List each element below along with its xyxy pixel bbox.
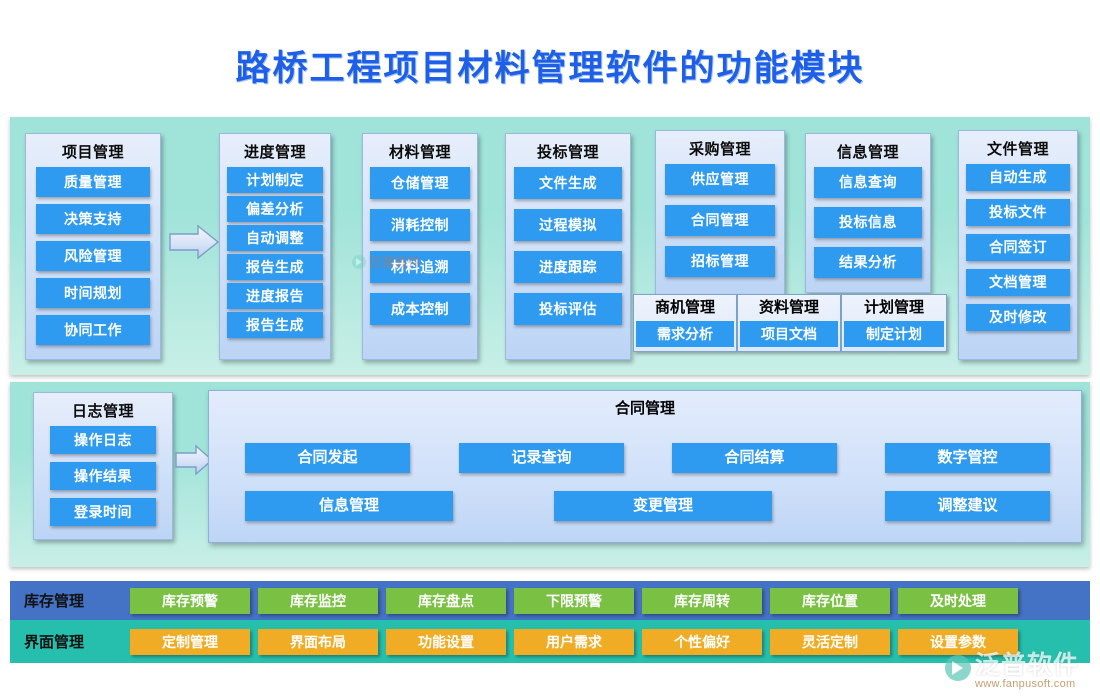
- mini-card-item[interactable]: 项目文档: [740, 321, 838, 347]
- contract-action[interactable]: 数字管控: [885, 443, 1050, 473]
- module-column-title: 进度管理: [220, 134, 330, 167]
- brand-name: 泛普软件: [975, 652, 1079, 678]
- module-item[interactable]: 结果分析: [814, 247, 922, 278]
- module-item[interactable]: 协同工作: [36, 315, 150, 345]
- inventory-chip[interactable]: 库存位置: [770, 588, 890, 614]
- module-item[interactable]: 文件生成: [514, 167, 622, 199]
- mini-card-item[interactable]: 制定计划: [844, 321, 944, 347]
- module-item[interactable]: 投标评估: [514, 293, 622, 325]
- module-column-information[interactable]: 信息管理 信息查询 投标信息 结果分析: [805, 133, 931, 293]
- module-item[interactable]: 自动生成: [966, 164, 1070, 191]
- module-column-title: 投标管理: [506, 134, 630, 167]
- module-item[interactable]: 过程模拟: [514, 209, 622, 241]
- module-item[interactable]: 偏差分析: [227, 196, 323, 222]
- module-item[interactable]: 时间规划: [36, 278, 150, 308]
- page-title: 路桥工程项目材料管理软件的功能模块: [0, 40, 1100, 91]
- module-column-title: 信息管理: [806, 134, 930, 167]
- ui-management-bar: 界面管理 定制管理 界面布局 功能设置 用户需求 个性偏好 灵活定制 设置参数: [10, 620, 1090, 663]
- module-item[interactable]: 供应管理: [665, 164, 775, 195]
- module-column-title: 日志管理: [34, 393, 172, 426]
- inventory-chip[interactable]: 库存预警: [130, 588, 250, 614]
- ui-chip[interactable]: 个性偏好: [642, 629, 762, 655]
- module-item[interactable]: 登录时间: [50, 498, 156, 526]
- module-item[interactable]: 决策支持: [36, 204, 150, 234]
- brand-mark-icon: [945, 655, 971, 681]
- mini-card-title: 商机管理: [634, 295, 736, 321]
- module-column-project[interactable]: 项目管理 质量管理 决策支持 风险管理 时间规划 协同工作: [25, 133, 161, 360]
- module-item[interactable]: 进度跟踪: [514, 251, 622, 283]
- module-item[interactable]: 风险管理: [36, 241, 150, 271]
- module-item[interactable]: 成本控制: [370, 293, 470, 325]
- contract-action[interactable]: 合同结算: [672, 443, 837, 473]
- module-item[interactable]: 计划制定: [227, 167, 323, 193]
- module-column-title: 文件管理: [959, 131, 1077, 164]
- contract-management-panel[interactable]: 合同管理 合同发起 记录查询 合同结算 数字管控 信息管理 变更管理 调整建议: [208, 390, 1082, 543]
- module-item[interactable]: 合同签订: [966, 234, 1070, 261]
- module-column-title: 项目管理: [26, 134, 160, 167]
- ui-chip[interactable]: 功能设置: [386, 629, 506, 655]
- inventory-chip[interactable]: 及时处理: [898, 588, 1018, 614]
- module-item[interactable]: 消耗控制: [370, 209, 470, 241]
- mini-card-item[interactable]: 需求分析: [636, 321, 734, 347]
- module-item[interactable]: 仓储管理: [370, 167, 470, 199]
- module-item[interactable]: 文档管理: [966, 269, 1070, 296]
- brand-url: www.fanpusoft.com: [975, 678, 1079, 691]
- mini-card-title: 计划管理: [842, 295, 946, 321]
- inventory-chip[interactable]: 库存盘点: [386, 588, 506, 614]
- module-column-title: 材料管理: [363, 134, 477, 167]
- module-item[interactable]: 信息查询: [814, 167, 922, 198]
- module-column-bidding[interactable]: 投标管理 文件生成 过程模拟 进度跟踪 投标评估: [505, 133, 631, 360]
- module-item[interactable]: 合同管理: [665, 205, 775, 236]
- module-item[interactable]: 报告生成: [227, 312, 323, 338]
- module-column-schedule[interactable]: 进度管理 计划制定 偏差分析 自动调整 报告生成 进度报告 报告生成: [219, 133, 331, 360]
- contract-action[interactable]: 变更管理: [554, 491, 772, 521]
- bar-label-inventory: 库存管理: [24, 581, 84, 620]
- module-column-purchase[interactable]: 采购管理 供应管理 合同管理 招标管理: [655, 130, 785, 295]
- module-column-material[interactable]: 材料管理 仓储管理 消耗控制 材料追溯 成本控制: [362, 133, 478, 360]
- flow-arrow-top: [168, 224, 220, 265]
- module-item[interactable]: 投标文件: [966, 199, 1070, 226]
- mini-card-title: 资料管理: [738, 295, 840, 321]
- inventory-management-bar: 库存管理 库存预警 库存监控 库存盘点 下限预警 库存周转 库存位置 及时处理: [10, 581, 1090, 620]
- mini-card-documents[interactable]: 资料管理 项目文档: [737, 294, 841, 352]
- module-item[interactable]: 投标信息: [814, 207, 922, 238]
- bar-label-ui: 界面管理: [24, 620, 84, 663]
- module-column-document[interactable]: 文件管理 自动生成 投标文件 合同签订 文档管理 及时修改: [958, 130, 1078, 360]
- module-item[interactable]: 及时修改: [966, 304, 1070, 331]
- module-item[interactable]: 操作日志: [50, 426, 156, 454]
- brand-logo: 泛普软件 www.fanpusoft.com: [945, 652, 1079, 691]
- module-item[interactable]: 操作结果: [50, 462, 156, 490]
- module-item[interactable]: 报告生成: [227, 254, 323, 280]
- contract-panel-title: 合同管理: [209, 391, 1081, 418]
- contract-action[interactable]: 合同发起: [245, 443, 410, 473]
- inventory-chip[interactable]: 库存监控: [258, 588, 378, 614]
- module-column-title: 采购管理: [656, 131, 784, 164]
- inventory-chip[interactable]: 下限预警: [514, 588, 634, 614]
- mini-card-plan[interactable]: 计划管理 制定计划: [841, 294, 947, 352]
- module-column-log[interactable]: 日志管理 操作日志 操作结果 登录时间: [33, 392, 173, 540]
- module-item[interactable]: 自动调整: [227, 225, 323, 251]
- contract-action[interactable]: 记录查询: [459, 443, 624, 473]
- ui-chip[interactable]: 界面布局: [258, 629, 378, 655]
- module-item[interactable]: 进度报告: [227, 283, 323, 309]
- module-item[interactable]: 材料追溯: [370, 251, 470, 283]
- mini-card-opportunity[interactable]: 商机管理 需求分析: [633, 294, 737, 352]
- contract-action[interactable]: 信息管理: [245, 491, 453, 521]
- contract-action[interactable]: 调整建议: [885, 491, 1050, 521]
- inventory-chip[interactable]: 库存周转: [642, 588, 762, 614]
- module-item[interactable]: 招标管理: [665, 246, 775, 277]
- module-item[interactable]: 质量管理: [36, 167, 150, 197]
- ui-chip[interactable]: 定制管理: [130, 629, 250, 655]
- ui-chip[interactable]: 用户需求: [514, 629, 634, 655]
- ui-chip[interactable]: 灵活定制: [770, 629, 890, 655]
